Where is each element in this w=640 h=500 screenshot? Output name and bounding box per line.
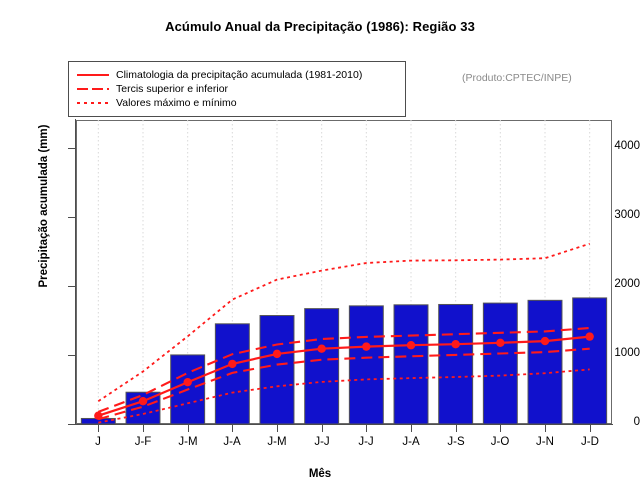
x-tick [188, 425, 189, 432]
x-tick [277, 425, 278, 432]
legend-item-label: Valores máximo e mínimo [116, 97, 237, 109]
legend-item: Valores máximo e mínimo [76, 96, 397, 110]
data-point-marker [139, 397, 147, 405]
plot-canvas [76, 120, 612, 424]
y-tick [68, 217, 75, 218]
x-tick [456, 425, 457, 432]
legend-item-label: Tercis superior e inferior [116, 83, 228, 95]
bar [349, 306, 383, 424]
x-tick [366, 425, 367, 432]
legend-item-label: Climatologia da precipitação acumulada (… [116, 69, 362, 81]
x-tick [98, 425, 99, 432]
data-point-marker [228, 360, 236, 368]
y-tick-label: 2000 [576, 278, 640, 290]
x-axis-line [75, 424, 613, 425]
bar [260, 316, 294, 424]
data-point-marker [585, 332, 593, 340]
bar [483, 303, 517, 424]
chart-page: Acúmulo Anual da Precipitação (1986): Re… [0, 0, 640, 500]
y-tick-label: 0 [576, 416, 640, 428]
y-tick [68, 286, 75, 287]
data-point-marker [317, 344, 325, 352]
data-point-marker [273, 350, 281, 358]
x-tick-label: J-D [560, 436, 620, 448]
y-tick-label: 4000 [576, 140, 640, 152]
data-point-marker [496, 339, 504, 347]
bar [528, 300, 562, 424]
legend-item: Climatologia da precipitação acumulada (… [76, 68, 397, 82]
x-tick [232, 425, 233, 432]
page-title: Acúmulo Anual da Precipitação (1986): Re… [0, 19, 640, 34]
legend-item: Tercis superior e inferior [76, 82, 397, 96]
bar [439, 304, 473, 424]
bar [573, 298, 607, 424]
data-point-marker [94, 412, 102, 420]
x-tick [545, 425, 546, 432]
bar [305, 309, 339, 424]
bar [394, 305, 428, 424]
y-axis-title: Precipitação acumulada (mm) [38, 76, 50, 336]
data-point-marker [362, 342, 370, 350]
x-axis-title: Mês [0, 468, 640, 480]
data-point-marker [183, 378, 191, 386]
y-tick [68, 148, 75, 149]
x-tick [590, 425, 591, 432]
x-tick [500, 425, 501, 432]
data-point-marker [407, 341, 415, 349]
x-tick [143, 425, 144, 432]
solid-line-icon [76, 69, 110, 81]
dashed-line-icon [76, 83, 110, 95]
y-tick [68, 424, 75, 425]
product-note: (Produto:CPTEC/INPE) [462, 72, 572, 84]
data-point-marker [451, 340, 459, 348]
y-axis-line [75, 119, 76, 425]
data-point-marker [541, 337, 549, 345]
x-tick [411, 425, 412, 432]
y-tick-label: 1000 [576, 347, 640, 359]
dotted-line-icon [76, 97, 110, 109]
y-tick [68, 355, 75, 356]
legend: Climatologia da precipitação acumulada (… [68, 61, 406, 117]
y-tick-label: 3000 [576, 209, 640, 221]
x-tick [322, 425, 323, 432]
